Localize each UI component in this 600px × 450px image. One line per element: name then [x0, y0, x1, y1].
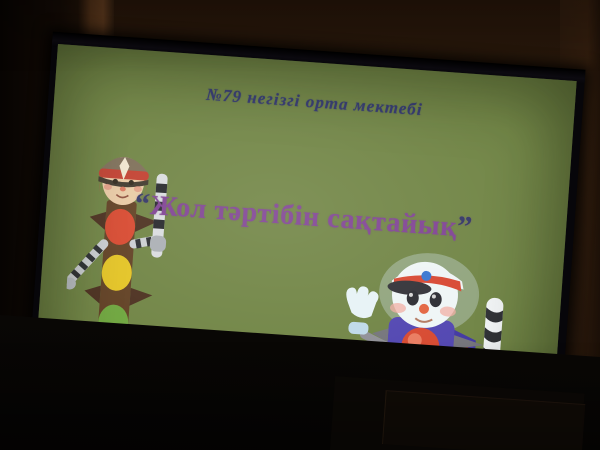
- slide-header-text: №79 негізгі орта мектебі: [54, 74, 574, 131]
- title-close-quote: ”: [456, 210, 474, 244]
- baton-left: [63, 241, 103, 292]
- slide-title: “Жол тәртібін сақтайық”: [134, 187, 555, 251]
- title-text: Жол тәртібін сақтайық: [149, 190, 458, 243]
- photo-scene: №79 негізгі орта мектебі: [0, 0, 600, 450]
